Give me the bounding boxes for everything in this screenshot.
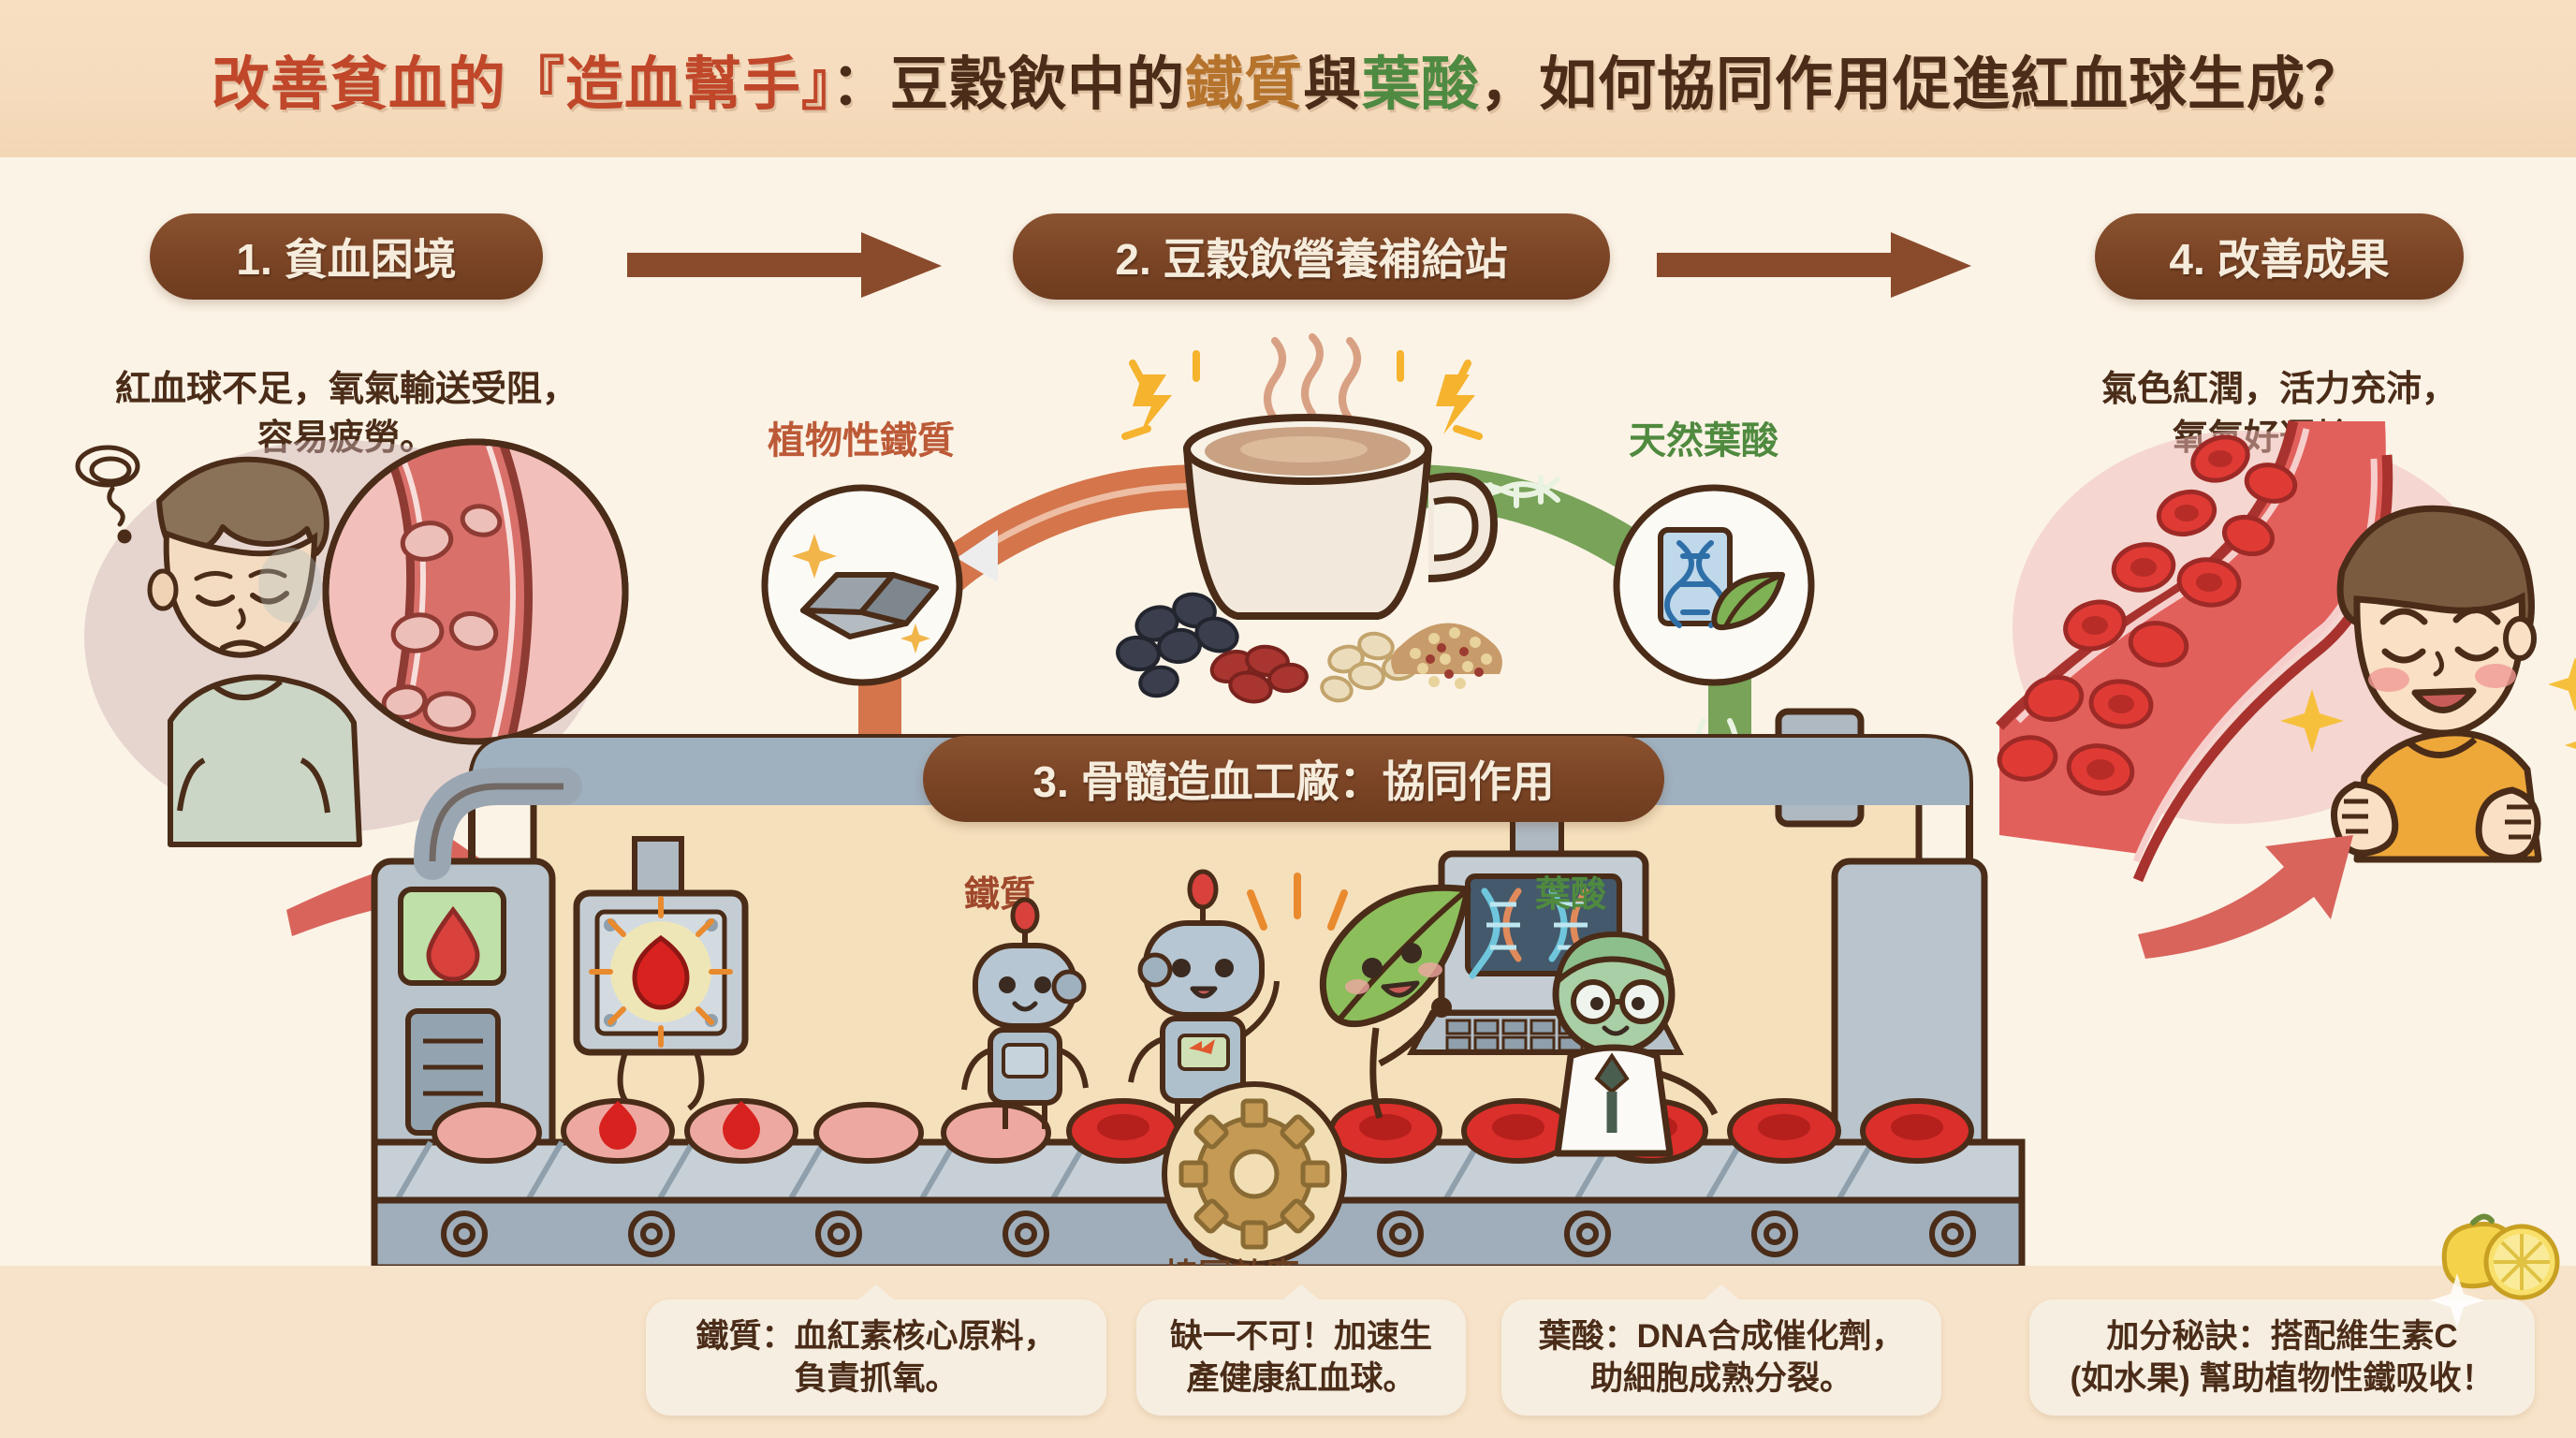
- title-colon: ：: [831, 52, 890, 117]
- folate-arrow-label: 天然葉酸: [1629, 410, 1778, 464]
- quinoa-grains-icon: [1391, 623, 1502, 689]
- title-part-1: 改善貧血的『造血幫手』: [212, 52, 831, 117]
- caption-synergy-line-2: 產健康紅血球。: [1170, 1357, 1432, 1401]
- badge-section-1: 1. 貧血困境: [150, 213, 543, 300]
- hot-drink-mug-icon: [1067, 337, 1629, 693]
- caption-synergy-line-1: 缺一不可！加速生: [1170, 1315, 1432, 1358]
- caption-iron-role: 鐵質：血紅素核心原料， 負責抓氧。: [646, 1299, 1106, 1416]
- flow-arrow-1-to-2: [627, 225, 945, 290]
- flow-arrow-3-to-4: [2134, 814, 2396, 955]
- caption-vitc-line-2: (如水果) 幫助植物性鐵吸收！: [2070, 1357, 2494, 1401]
- robot-worker-icon: [945, 899, 1105, 1133]
- title-iron-word: 鐵質: [1185, 52, 1303, 117]
- title-part-3: ，如何協同作用促進紅血球生成？: [1480, 52, 2364, 117]
- badge-section-4-label: 4. 改善成果: [2169, 226, 2389, 287]
- caption-folate-role: 葉酸：DNA合成催化劑， 助細胞成熟分裂。: [1501, 1299, 1941, 1416]
- caption-folate-line-2: 助細胞成熟分裂。: [1539, 1357, 1905, 1401]
- caption-notch: [1282, 1284, 1320, 1300]
- thought-swirl-icon: [78, 448, 138, 541]
- caption-notch: [1703, 1284, 1740, 1300]
- factory-folate-label: 葉酸: [1535, 865, 1606, 917]
- caption-notch: [857, 1284, 895, 1300]
- lemon-icon: [2432, 1206, 2563, 1318]
- badge-section-1-label: 1. 貧血困境: [236, 226, 456, 287]
- badge-section-2: 2. 豆穀飲營養補給站: [1013, 213, 1610, 300]
- page-title: 改善貧血的『造血幫手』：豆穀飲中的鐵質與葉酸，如何協同作用促進紅血球生成？: [212, 37, 2364, 121]
- caption-folate-line-1: 葉酸：DNA合成催化劑，: [1539, 1315, 1905, 1358]
- badge-section-3-label: 3. 骨髓造血工廠：協同作用: [1032, 748, 1554, 810]
- iron-nugget-icon: [754, 477, 970, 693]
- caption-iron-line-1: 鐵質：血紅素核心原料，: [695, 1315, 1056, 1358]
- dna-leaf-icon: [1606, 477, 1822, 693]
- title-part-2: 豆穀飲中的: [890, 52, 1185, 117]
- caption-iron-line-2: 負責抓氧。: [695, 1357, 1056, 1401]
- title-folate-word: 葉酸: [1362, 52, 1480, 117]
- title-conj: 與: [1303, 52, 1362, 117]
- iron-arrow-label: 植物性鐵質: [768, 410, 955, 464]
- steam-icon: [1267, 337, 1357, 419]
- infographic-canvas: 改善貧血的『造血幫手』：豆穀飲中的鐵質與葉酸，如何協同作用促進紅血球生成？ 1.…: [0, 0, 2576, 1438]
- title-banner: 改善貧血的『造血幫手』：豆穀飲中的鐵質與葉酸，如何協同作用促進紅血球生成？: [0, 0, 2576, 157]
- caption-vitc-line-1: 加分秘訣：搭配維生素C: [2070, 1315, 2494, 1358]
- happy-person-icon: [2284, 468, 2576, 861]
- badge-section-2-label: 2. 豆穀飲營養補給站: [1115, 226, 1507, 287]
- badge-section-3: 3. 骨髓造血工廠：協同作用: [923, 736, 1664, 822]
- scientist-character-icon: [1531, 927, 1709, 1161]
- caption-synergy: 缺一不可！加速生 產健康紅血球。: [1136, 1299, 1466, 1416]
- badge-section-4: 4. 改善成果: [2095, 213, 2464, 300]
- flow-arrow-2-to-4: [1657, 225, 1975, 290]
